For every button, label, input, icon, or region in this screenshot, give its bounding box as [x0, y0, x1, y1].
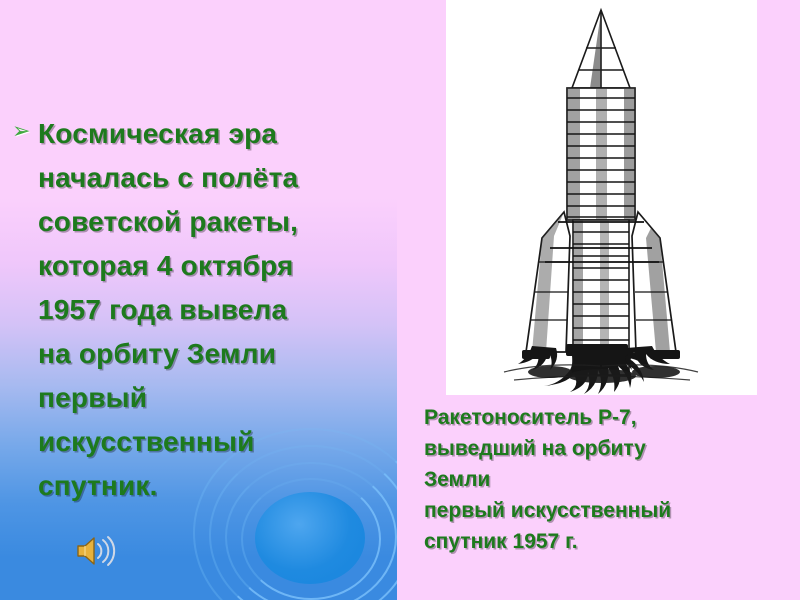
bullet-paragraph: ➢ Космическая эра началась с полёта сове…	[12, 112, 392, 508]
rocket-image	[446, 0, 757, 395]
image-caption: Ракетоноситель Р-7, выведший на орбиту З…	[424, 402, 796, 557]
arrow-bullet-icon: ➢	[12, 112, 38, 152]
bullet-text: Космическая эра началась с полёта советс…	[38, 112, 392, 508]
slide-canvas: ➢ Космическая эра началась с полёта сове…	[0, 0, 800, 600]
rocket-drawing	[446, 0, 757, 395]
bullet-row: ➢ Космическая эра началась с полёта сове…	[12, 112, 392, 508]
speaker-sound-icon[interactable]	[74, 534, 116, 568]
